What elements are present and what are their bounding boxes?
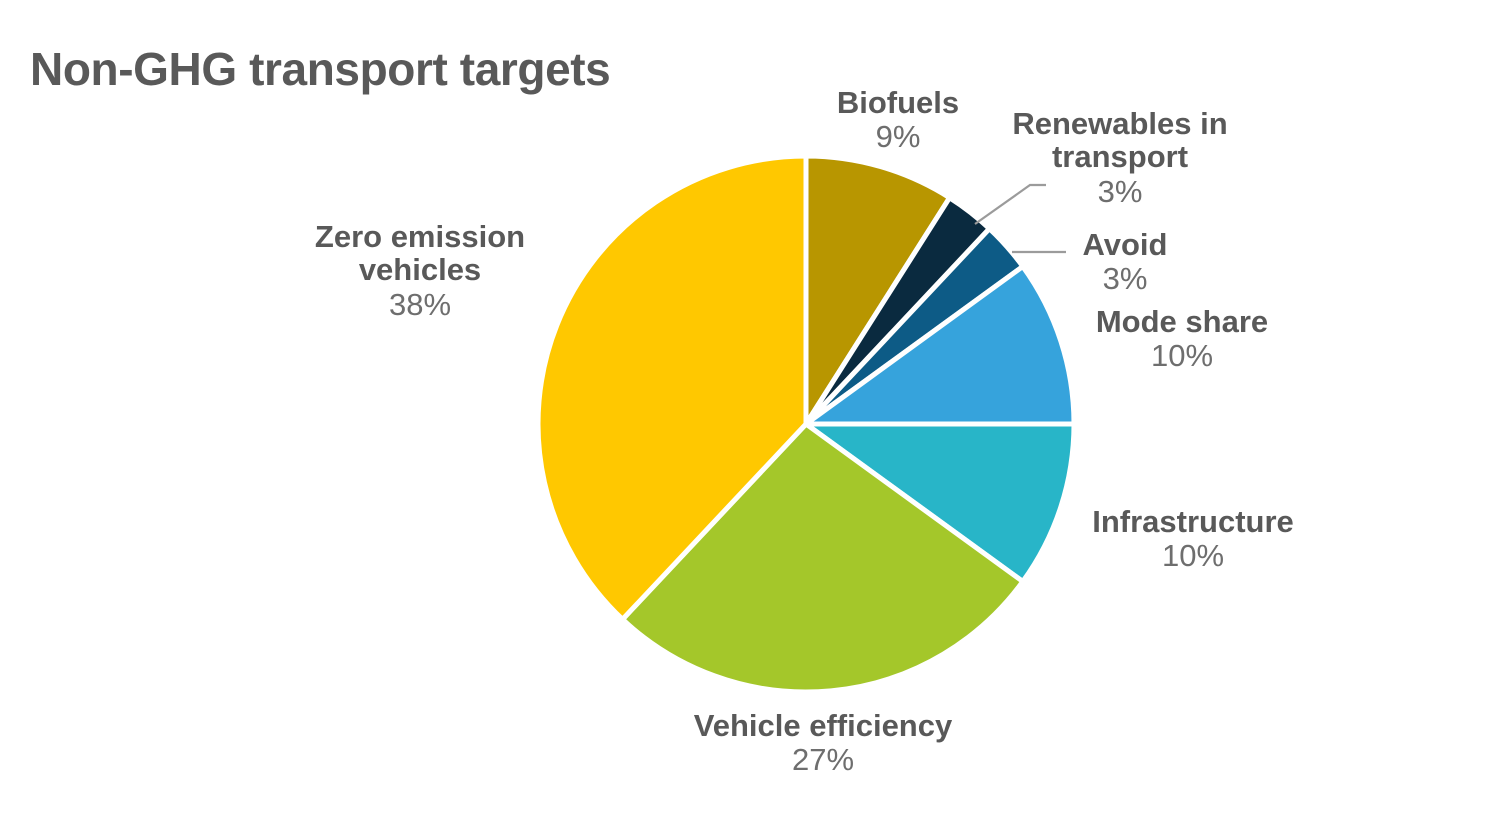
slice-label-percent-mode-share: 10% [1086,339,1278,372]
slice-label-vehicle-efficiency: Vehicle efficiency27% [676,709,970,777]
slice-label-zero-emission-vehicles: Zero emission vehicles38% [300,220,540,321]
slice-label-biofuels: Biofuels9% [824,86,972,154]
pie-slices [538,156,1074,692]
slice-label-name-avoid: Avoid [1064,228,1186,261]
slice-label-name-mode-share: Mode share [1086,305,1278,338]
slice-label-name-zero-emission-vehicles: Zero emission vehicles [300,220,540,287]
slice-label-percent-vehicle-efficiency: 27% [676,743,970,776]
slice-label-percent-zero-emission-vehicles: 38% [300,288,540,321]
slice-label-renewables-in-transport: Renewables in transport3% [1002,107,1238,208]
pie-chart-graphic [0,0,1512,823]
slice-label-percent-infrastructure: 10% [1080,539,1306,572]
slice-label-percent-biofuels: 9% [824,120,972,153]
slice-label-infrastructure: Infrastructure10% [1080,505,1306,573]
slice-label-name-renewables-in-transport: Renewables in transport [1002,107,1238,174]
slice-label-avoid: Avoid3% [1064,228,1186,296]
pie-chart-figure: Non-GHG transport targets Biofuels9%Rene… [0,0,1512,823]
slice-label-name-biofuels: Biofuels [824,86,972,119]
slice-label-mode-share: Mode share10% [1086,305,1278,373]
slice-label-percent-renewables-in-transport: 3% [1002,175,1238,208]
slice-label-name-infrastructure: Infrastructure [1080,505,1306,538]
slice-label-percent-avoid: 3% [1064,262,1186,295]
slice-label-name-vehicle-efficiency: Vehicle efficiency [676,709,970,742]
